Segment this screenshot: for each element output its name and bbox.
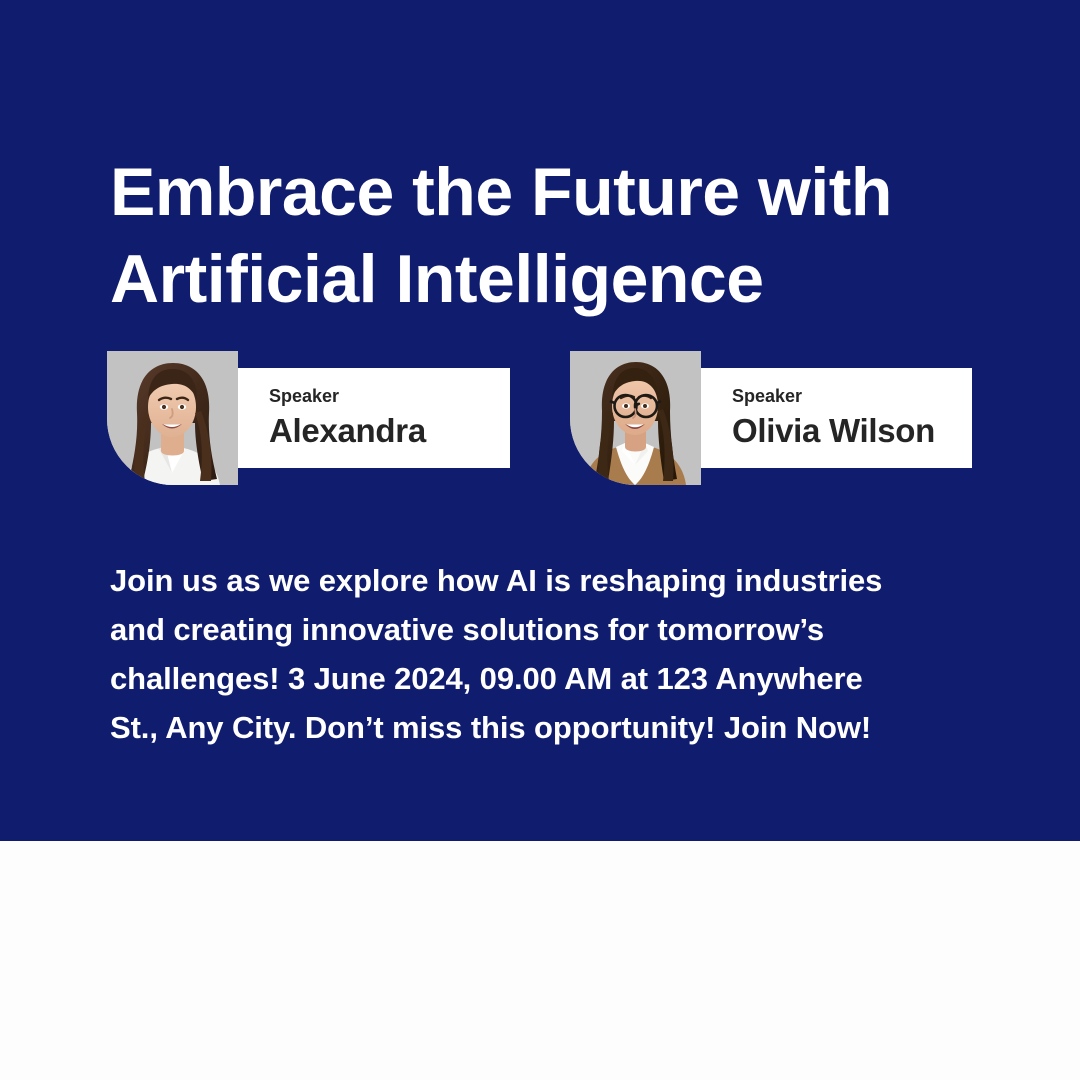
speaker-list: Speaker Alexandra bbox=[107, 351, 987, 491]
speaker-name: Olivia Wilson bbox=[732, 413, 972, 449]
description-line-1: Join us as we explore how AI is reshapin… bbox=[110, 556, 1000, 605]
description-line-2: and creating innovative solutions for to… bbox=[110, 605, 1000, 654]
description-line-4: St., Any City. Don’t miss this opportuni… bbox=[110, 703, 1000, 752]
footer-section: Capcut Free Registration! Follow our soc… bbox=[0, 841, 1080, 1080]
headline-line-1: Embrace the Future with bbox=[110, 149, 1010, 236]
speaker-info: Speaker Alexandra bbox=[238, 368, 510, 468]
hero-section: Embrace the Future with Artificial Intel… bbox=[0, 0, 1080, 841]
avatar bbox=[570, 351, 701, 485]
poster-canvas: Embrace the Future with Artificial Intel… bbox=[0, 0, 1080, 1080]
speaker-card[interactable]: Speaker Alexandra bbox=[107, 351, 510, 485]
speaker-info: Speaker Olivia Wilson bbox=[701, 368, 972, 468]
description-line-3: challenges! 3 June 2024, 09.00 AM at 123… bbox=[110, 654, 1000, 703]
speaker-card[interactable]: Speaker Olivia Wilson bbox=[570, 351, 972, 485]
page-title: Embrace the Future with Artificial Intel… bbox=[110, 149, 1010, 323]
event-description: Join us as we explore how AI is reshapin… bbox=[110, 556, 1000, 752]
headline-line-2: Artificial Intelligence bbox=[110, 236, 1010, 323]
speaker-role-label: Speaker bbox=[269, 387, 510, 407]
avatar bbox=[107, 351, 238, 485]
speaker-name: Alexandra bbox=[269, 413, 510, 449]
speaker-role-label: Speaker bbox=[732, 387, 972, 407]
